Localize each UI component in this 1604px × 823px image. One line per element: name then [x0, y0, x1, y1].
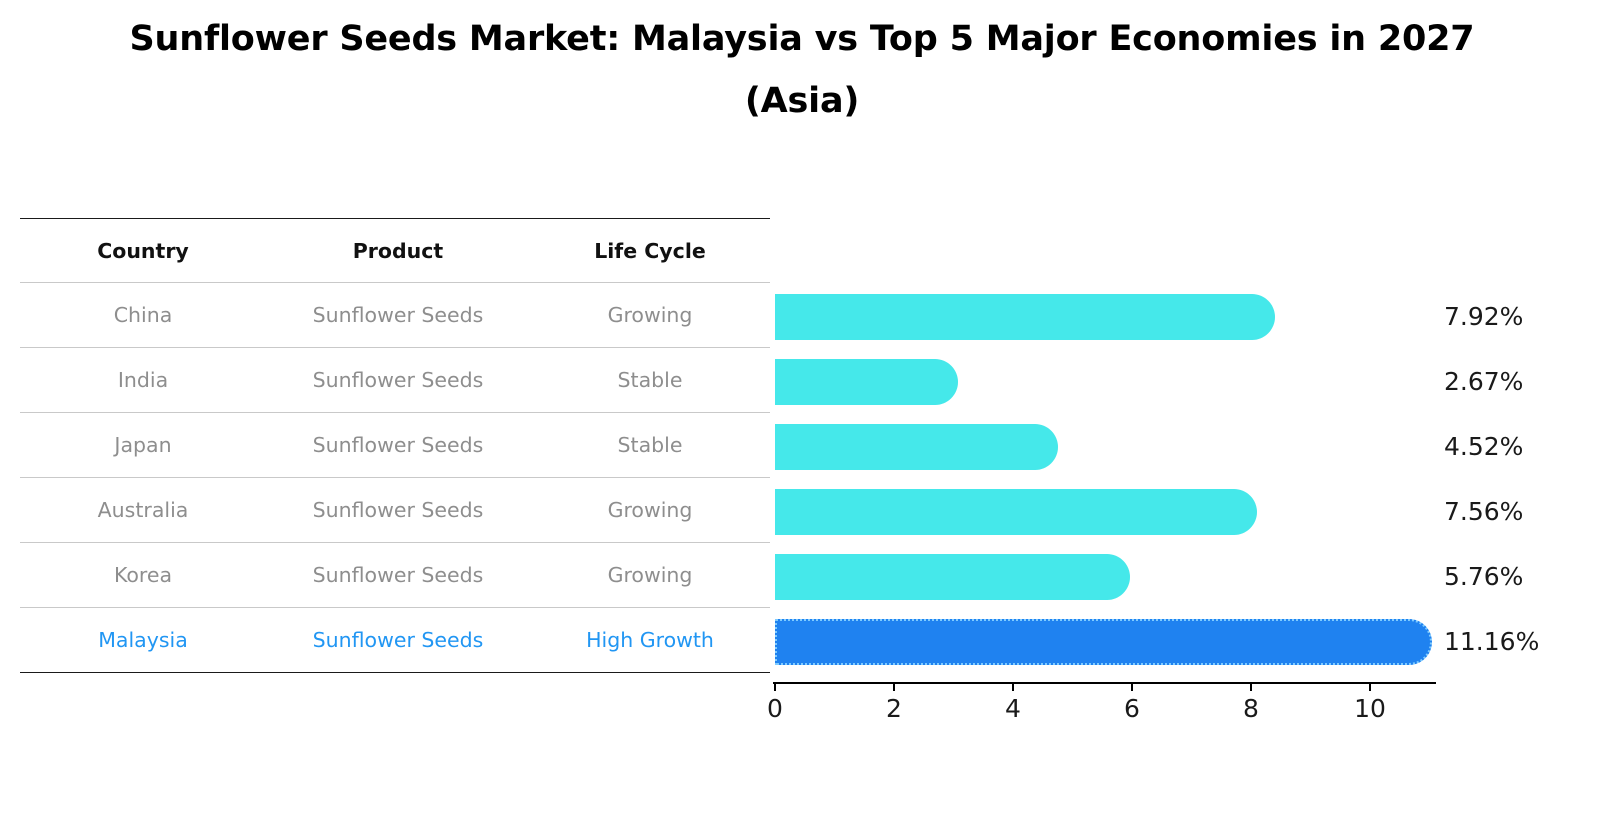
- x-axis-tick-label: 4: [1005, 694, 1021, 723]
- cell-product: Sunflower Seeds: [266, 478, 530, 543]
- cell-country: India: [20, 348, 266, 413]
- cell-country: Malaysia: [20, 608, 266, 673]
- table-row: Japan Sunflower Seeds Stable: [20, 413, 770, 478]
- cell-country: Australia: [20, 478, 266, 543]
- x-axis-tick-label: 6: [1124, 694, 1140, 723]
- table-header-row: Country Product Life Cycle: [20, 219, 770, 283]
- bar-label-india: 2.67%: [1444, 359, 1523, 405]
- bar-china: [775, 294, 1275, 340]
- x-axis-tick: [1131, 682, 1133, 691]
- chart-page: Sunflower Seeds Market: Malaysia vs Top …: [0, 0, 1604, 823]
- country-table: Country Product Life Cycle China Sunflow…: [20, 218, 770, 673]
- chart-title-line-2: (Asia): [0, 70, 1604, 132]
- bar-label-japan: 4.52%: [1444, 424, 1523, 470]
- bar-label-australia: 7.56%: [1444, 489, 1523, 535]
- bar-korea: [775, 554, 1130, 600]
- cell-life-cycle: Growing: [530, 543, 770, 608]
- cell-life-cycle: Stable: [530, 348, 770, 413]
- table-row: China Sunflower Seeds Growing: [20, 283, 770, 348]
- bar-label-china: 7.92%: [1444, 294, 1523, 340]
- x-axis-tick: [1012, 682, 1014, 691]
- x-axis-tick-label: 0: [767, 694, 783, 723]
- table-header: Country Product Life Cycle: [20, 219, 770, 283]
- cell-product: Sunflower Seeds: [266, 543, 530, 608]
- x-axis-tick: [893, 682, 895, 691]
- x-axis-tick: [774, 682, 776, 691]
- comparison-table: Country Product Life Cycle China Sunflow…: [20, 218, 770, 673]
- cell-country: China: [20, 283, 266, 348]
- x-axis-line: [773, 682, 1436, 684]
- x-axis-tick: [1369, 682, 1371, 691]
- column-header-product: Product: [266, 219, 530, 283]
- bar-malaysia: [775, 619, 1432, 665]
- cell-life-cycle: High Growth: [530, 608, 770, 673]
- table-row-highlighted: Malaysia Sunflower Seeds High Growth: [20, 608, 770, 673]
- table-row: Australia Sunflower Seeds Growing: [20, 478, 770, 543]
- bar-label-malaysia: 11.16%: [1444, 619, 1539, 665]
- bar-label-korea: 5.76%: [1444, 554, 1523, 600]
- bar-india: [775, 359, 958, 405]
- cell-life-cycle: Growing: [530, 283, 770, 348]
- table-row: India Sunflower Seeds Stable: [20, 348, 770, 413]
- x-axis-tick-label: 8: [1243, 694, 1259, 723]
- chart-title: Sunflower Seeds Market: Malaysia vs Top …: [0, 8, 1604, 132]
- table-row: Korea Sunflower Seeds Growing: [20, 543, 770, 608]
- bar-australia: [775, 489, 1257, 535]
- column-header-life-cycle: Life Cycle: [530, 219, 770, 283]
- table-body: China Sunflower Seeds Growing India Sunf…: [20, 283, 770, 673]
- cell-product: Sunflower Seeds: [266, 413, 530, 478]
- column-header-country: Country: [20, 219, 266, 283]
- bar-japan: [775, 424, 1058, 470]
- cell-life-cycle: Growing: [530, 478, 770, 543]
- cell-country: Korea: [20, 543, 266, 608]
- x-axis-tick: [1250, 682, 1252, 691]
- chart-title-line-1: Sunflower Seeds Market: Malaysia vs Top …: [0, 8, 1604, 70]
- x-axis-tick-label: 10: [1354, 694, 1386, 723]
- x-axis-tick-label: 2: [886, 694, 902, 723]
- cell-product: Sunflower Seeds: [266, 348, 530, 413]
- cell-product: Sunflower Seeds: [266, 283, 530, 348]
- cell-life-cycle: Stable: [530, 413, 770, 478]
- cell-product: Sunflower Seeds: [266, 608, 530, 673]
- cell-country: Japan: [20, 413, 266, 478]
